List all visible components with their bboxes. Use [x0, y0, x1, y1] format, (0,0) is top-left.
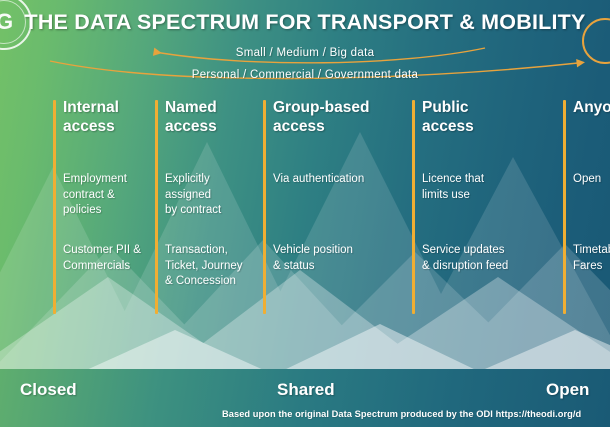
column-item-primary: Via authentication	[273, 172, 364, 188]
column-divider	[563, 100, 566, 314]
spectrum-bottom-bar: Closed Shared Open Based upon the origin…	[0, 369, 610, 427]
column-item-primary: Open	[573, 172, 601, 188]
column-divider	[412, 100, 415, 314]
column-anyone-access[interactable]: Anyone Open Timetable Fares	[563, 98, 610, 316]
page-title: THE DATA SPECTRUM FOR TRANSPORT & MOBILI…	[0, 10, 610, 35]
bottom-label-shared: Shared	[277, 380, 335, 400]
column-divider	[155, 100, 158, 314]
column-item-secondary: Vehicle position & status	[273, 243, 353, 274]
column-public-access[interactable]: Public access Licence that limits use Se…	[412, 98, 563, 316]
column-item-primary: Explicitly assigned by contract	[165, 172, 221, 219]
column-item-primary: Employment contract & policies	[63, 172, 127, 219]
column-divider	[53, 100, 56, 314]
column-named-access[interactable]: Named access Explicitly assigned by cont…	[155, 98, 263, 316]
column-heading: Anyone	[573, 98, 610, 117]
column-heading: Group-based access	[273, 98, 369, 136]
spectrum-columns: Internal access Employment contract & po…	[0, 98, 610, 316]
column-item-secondary: Service updates & disruption feed	[422, 243, 508, 274]
column-item-secondary: Timetable Fares	[573, 243, 610, 274]
column-item-secondary: Customer PII & Commercials	[63, 243, 141, 274]
column-divider	[263, 100, 266, 314]
bottom-label-closed: Closed	[20, 380, 77, 400]
column-item-primary: Licence that limits use	[422, 172, 484, 203]
column-group-based-access[interactable]: Group-based access Via authentication Ve…	[263, 98, 412, 316]
column-internal-access[interactable]: Internal access Employment contract & po…	[53, 98, 155, 316]
data-spectrum-slide: G THE DATA SPECTRUM FOR TRANSPORT & MOBI…	[0, 0, 610, 427]
bottom-label-open: Open	[546, 380, 589, 400]
column-heading: Internal access	[63, 98, 119, 136]
arrow-label-bottom: Personal / Commercial / Government data	[0, 69, 610, 81]
column-heading: Public access	[422, 98, 474, 136]
spectrum-arrows: Small / Medium / Big data Personal / Com…	[0, 38, 610, 88]
column-item-secondary: Transaction, Ticket, Journey & Concessio…	[165, 243, 243, 290]
credit-text: Based upon the original Data Spectrum pr…	[222, 409, 581, 419]
arrow-label-top: Small / Medium / Big data	[0, 47, 610, 59]
column-heading: Named access	[165, 98, 217, 136]
